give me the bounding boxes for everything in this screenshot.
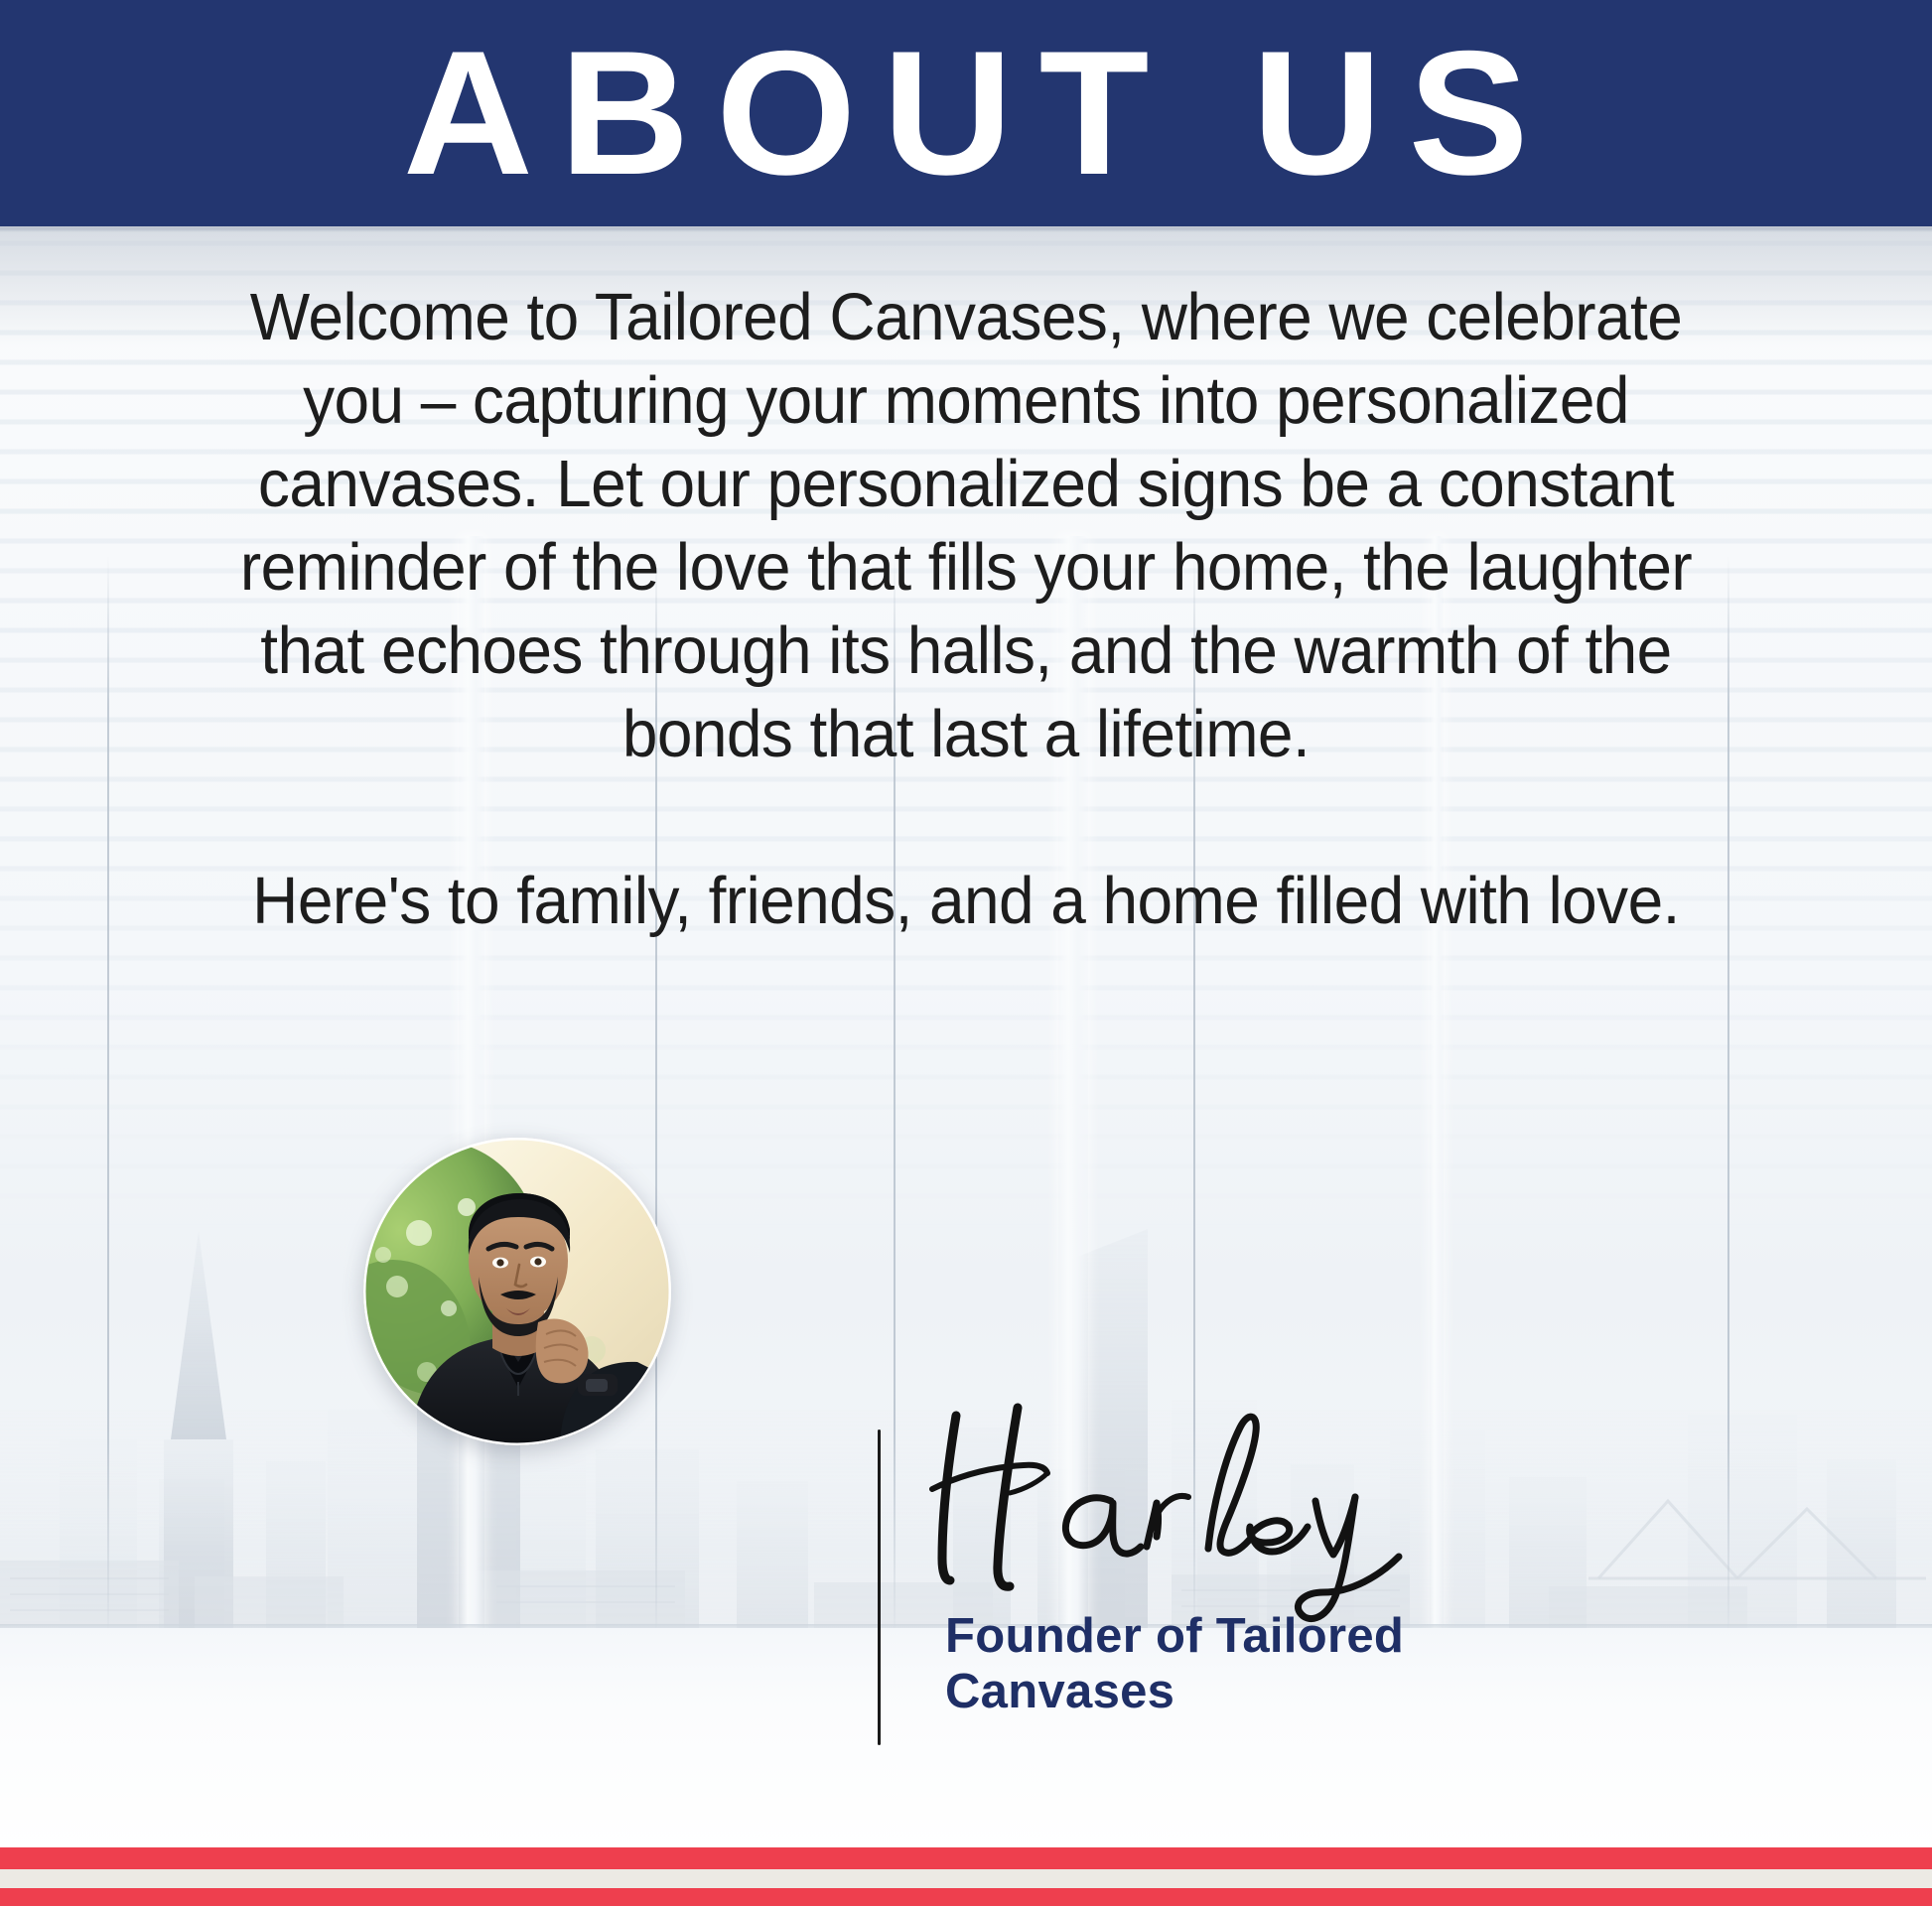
bottom-stripe-bottom bbox=[0, 1888, 1932, 1906]
about-paragraph-1: Welcome to Tailored Canvases, where we c… bbox=[214, 276, 1719, 776]
page-title: ABOUT US bbox=[377, 25, 1556, 202]
bottom-stripe-top bbox=[0, 1847, 1932, 1869]
about-paragraph-2: Here's to family, friends, and a home fi… bbox=[214, 860, 1719, 943]
page-header: ABOUT US bbox=[0, 0, 1932, 226]
founder-title: Founder of Tailored Canvases bbox=[945, 1608, 1561, 1719]
avatar bbox=[363, 1138, 671, 1445]
signature-divider bbox=[878, 1429, 881, 1745]
about-us-page: ABOUT US Welcome to Tailored Canvases, w… bbox=[0, 0, 1932, 1906]
about-copy: Welcome to Tailored Canvases, where we c… bbox=[179, 276, 1753, 943]
header-shadow bbox=[0, 226, 1932, 232]
window-mullion bbox=[107, 556, 109, 1648]
bottom-stripe-gap bbox=[0, 1869, 1932, 1888]
